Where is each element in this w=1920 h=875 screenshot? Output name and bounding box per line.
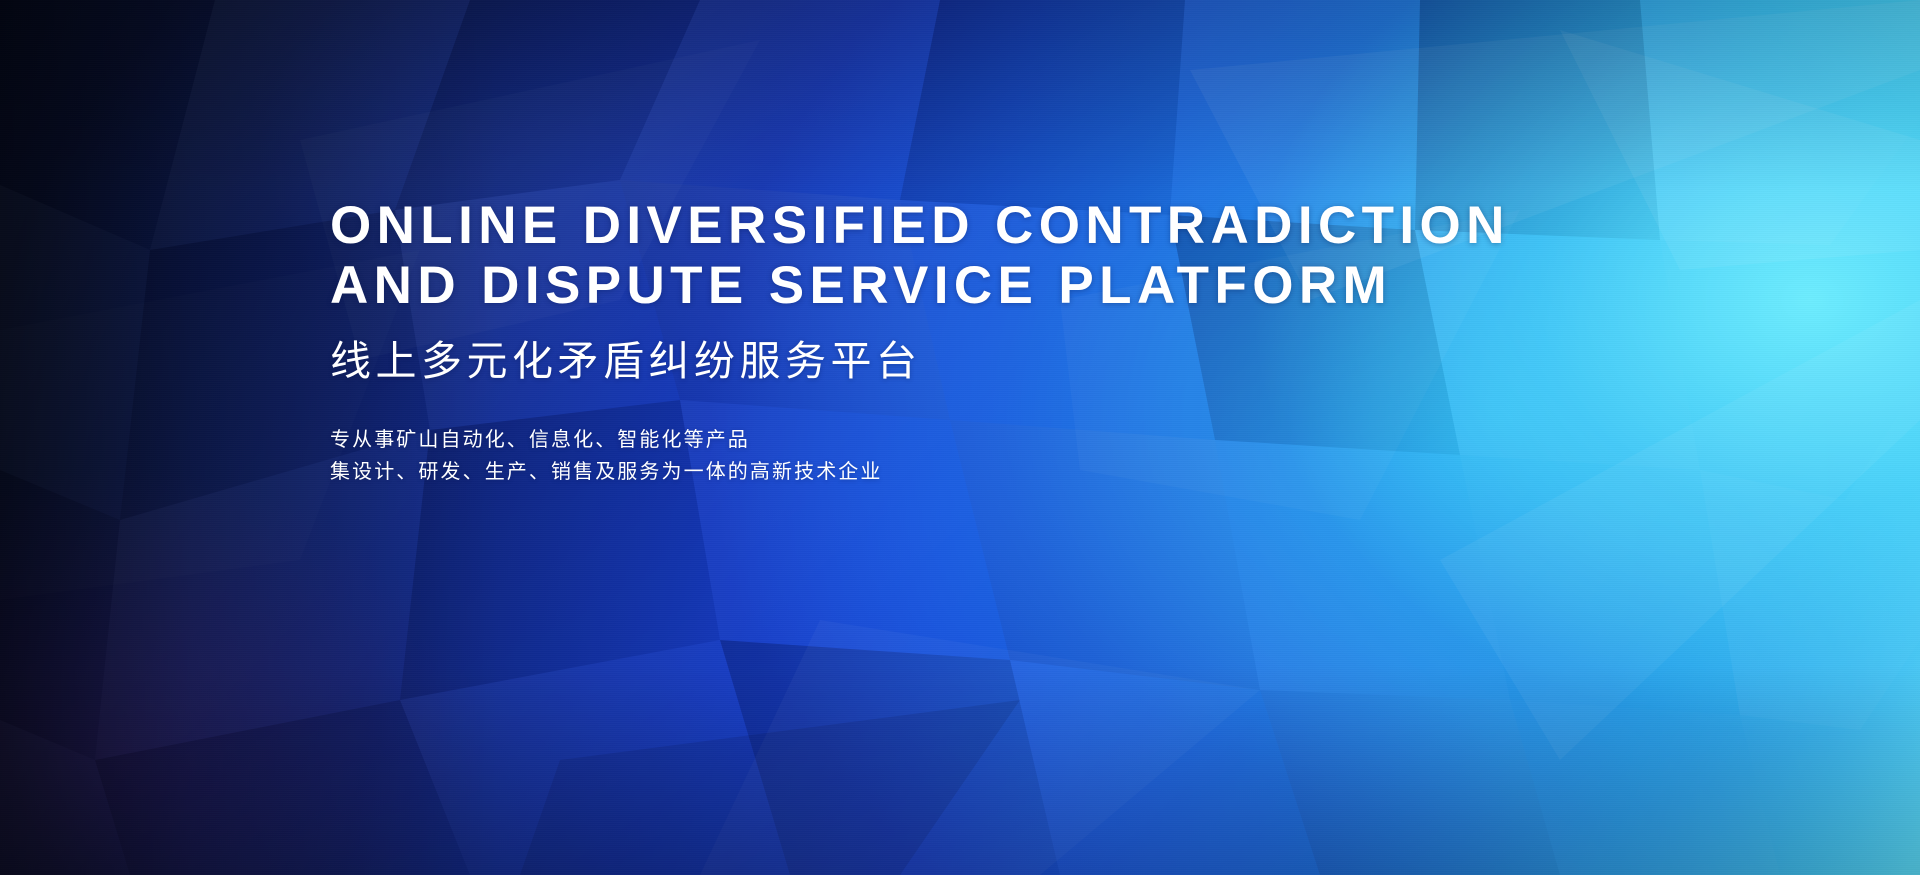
headline-line-1: ONLINE DIVERSIFIED CONTRADICTION (330, 196, 1510, 255)
headline-line-2: AND DISPUTE SERVICE PLATFORM (330, 256, 1392, 315)
hero-content: ONLINE DIVERSIFIED CONTRADICTION AND DIS… (330, 196, 1680, 488)
page-subtitle: 线上多元化矛盾纠纷服务平台 (330, 337, 1680, 385)
description-line-1: 专从事矿山自动化、信息化、智能化等产品 (330, 424, 1680, 456)
page-title: ONLINE DIVERSIFIED CONTRADICTION AND DIS… (330, 196, 1680, 316)
description-block: 专从事矿山自动化、信息化、智能化等产品 集设计、研发、生产、销售及服务为一体的高… (330, 424, 1680, 488)
hero-banner: ONLINE DIVERSIFIED CONTRADICTION AND DIS… (0, 0, 1920, 875)
description-line-2: 集设计、研发、生产、销售及服务为一体的高新技术企业 (330, 456, 1680, 488)
